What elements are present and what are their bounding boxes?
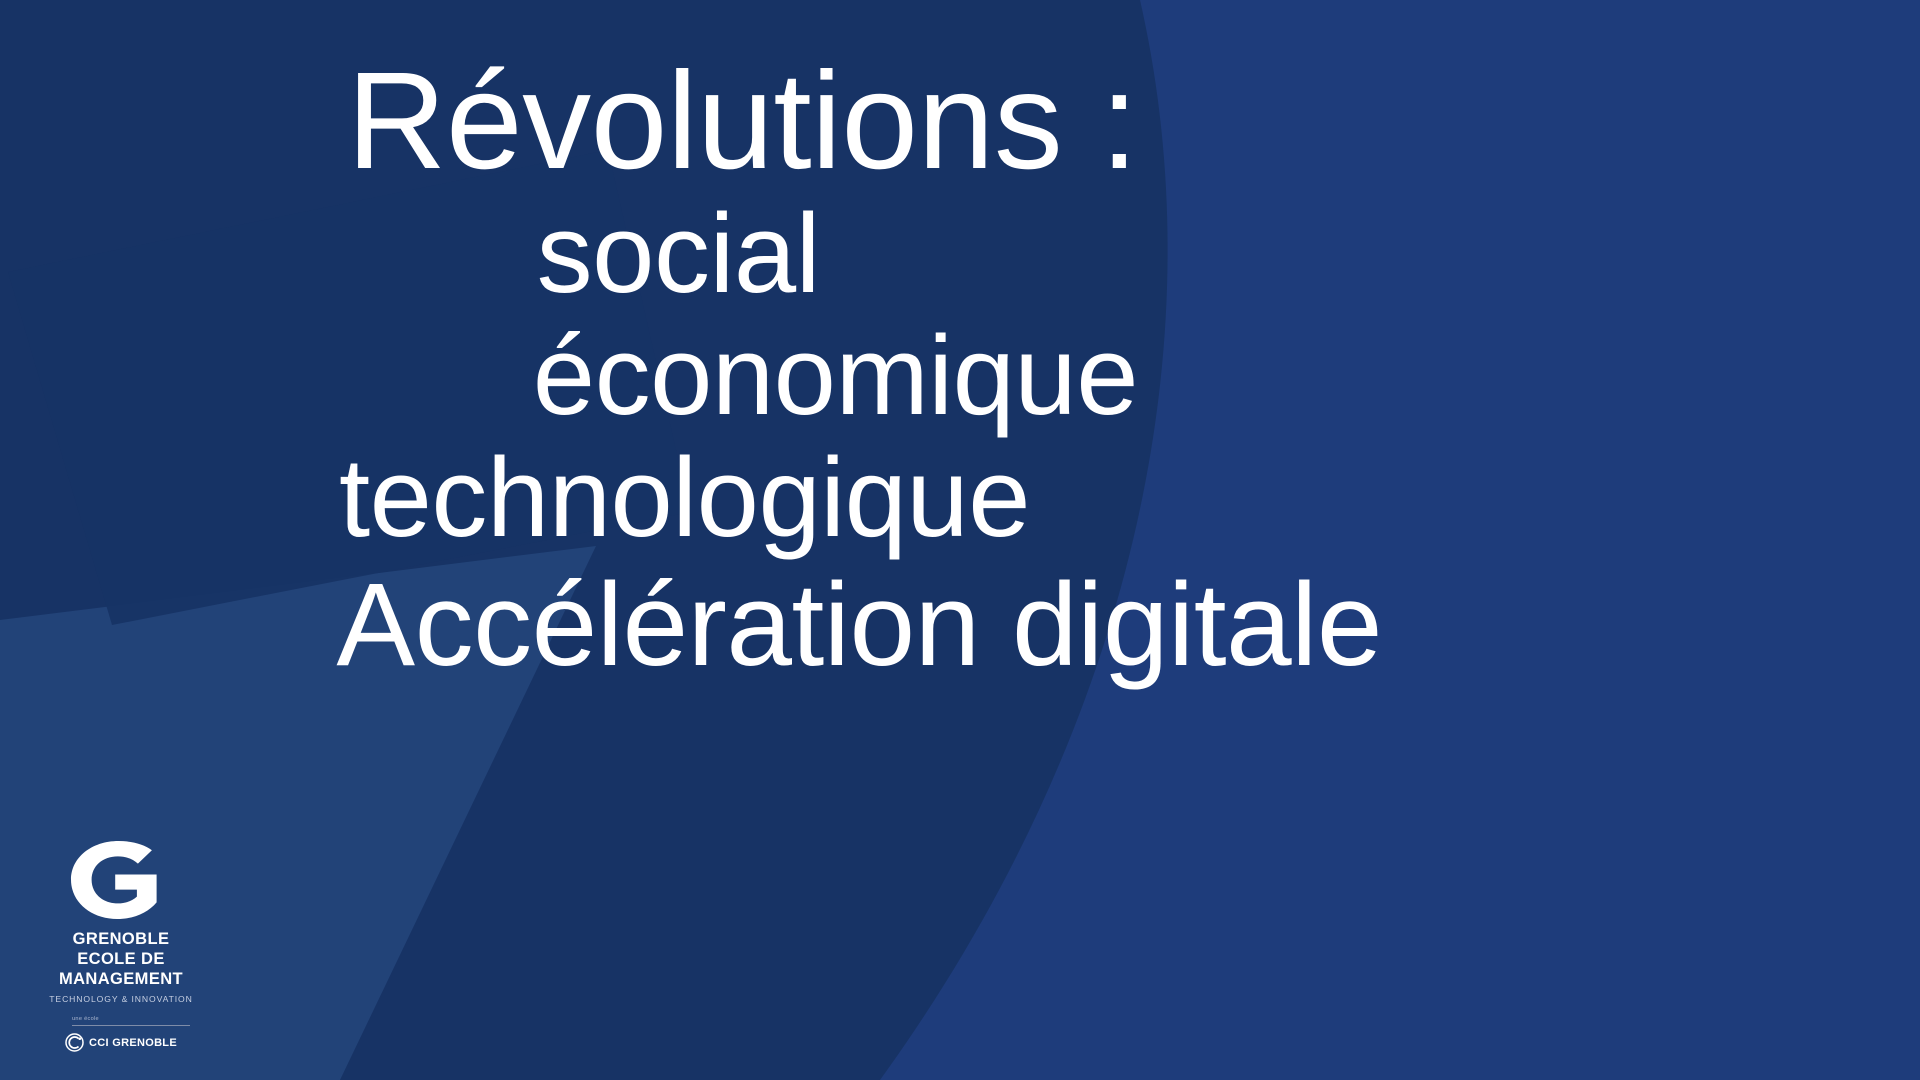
- title-line-acceleration: Accélération digitale: [0, 566, 1700, 684]
- gem-logo-affiliation: une école CCI GRENOBLE: [28, 1017, 214, 1052]
- cci-circle-icon: [65, 1033, 84, 1052]
- affiliation-divider: [72, 1025, 190, 1026]
- gem-logo-name-line1: GRENOBLE: [28, 929, 214, 949]
- gem-logo-name: GRENOBLE ECOLE DE MANAGEMENT: [28, 929, 214, 989]
- presentation-slide: Révolutions : social économique technolo…: [0, 0, 1920, 1080]
- cci-lockup: CCI GRENOBLE: [28, 1033, 214, 1052]
- title-line-revolutions: Révolutions :: [0, 52, 1700, 198]
- title-line-technologique: technologique: [0, 442, 1700, 566]
- title-line-economique: économique: [0, 320, 1700, 442]
- title-line-social: social: [0, 198, 1700, 320]
- gem-g-monogram-icon: [69, 841, 173, 919]
- cci-label: CCI GRENOBLE: [89, 1037, 177, 1049]
- gem-logo-name-line2: ECOLE DE: [28, 949, 214, 969]
- affiliation-label: une école: [28, 1017, 214, 1023]
- gem-logo-name-line3: MANAGEMENT: [28, 969, 214, 989]
- slide-title-block: Révolutions : social économique technolo…: [0, 52, 1700, 684]
- gem-logo-tagline: TECHNOLOGY & INNOVATION: [28, 994, 214, 1004]
- gem-logo: GRENOBLE ECOLE DE MANAGEMENT TECHNOLOGY …: [28, 841, 214, 1052]
